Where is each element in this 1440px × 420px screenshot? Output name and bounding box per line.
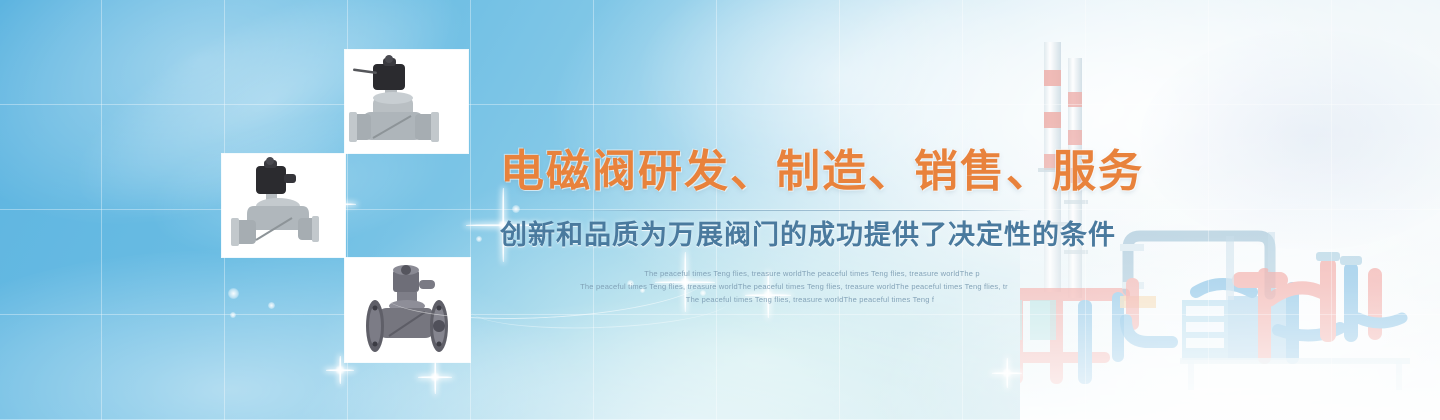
cloud-wisp: [1140, 30, 1440, 250]
bokeh-dot: [268, 302, 275, 309]
paragraph-line: The peaceful times Teng flies, treasure …: [510, 293, 1110, 306]
product-thumbnail-solenoid-valve-flanged[interactable]: [345, 258, 470, 362]
sparkle: [418, 360, 452, 394]
paragraph-line: The peaceful times Teng flies, treasure …: [494, 280, 1094, 293]
pipework-arch: [1120, 236, 1270, 342]
hero-banner: 电磁阀研发、制造、销售、服务 创新和品质为万展阀门的成功提供了决定性的条件 Th…: [0, 0, 1440, 420]
cloud-wisp: [0, 250, 580, 420]
headline-divider: [570, 210, 1030, 211]
bokeh-dot: [228, 288, 239, 299]
banner-text-block: 电磁阀研发、制造、销售、服务 创新和品质为万展阀门的成功提供了决定性的条件 Th…: [500, 150, 1100, 306]
bokeh-dot: [476, 236, 482, 242]
product-thumbnail-solenoid-valve-threaded-black-coil[interactable]: [345, 50, 468, 153]
paragraph-line: The peaceful times Teng flies, treasure …: [512, 267, 1112, 280]
bokeh-dot: [230, 312, 236, 318]
sparkle: [992, 358, 1022, 388]
banner-paragraph: The peaceful times Teng flies, treasure …: [500, 267, 1100, 306]
banner-subheadline: 创新和品质为万展阀门的成功提供了决定性的条件: [500, 219, 1100, 253]
product-thumbnail-solenoid-valve-threaded-angled[interactable]: [222, 154, 345, 257]
pipework-right: [1180, 232, 1410, 390]
banner-headline: 电磁阀研发、制造、销售、服务: [500, 150, 1100, 194]
